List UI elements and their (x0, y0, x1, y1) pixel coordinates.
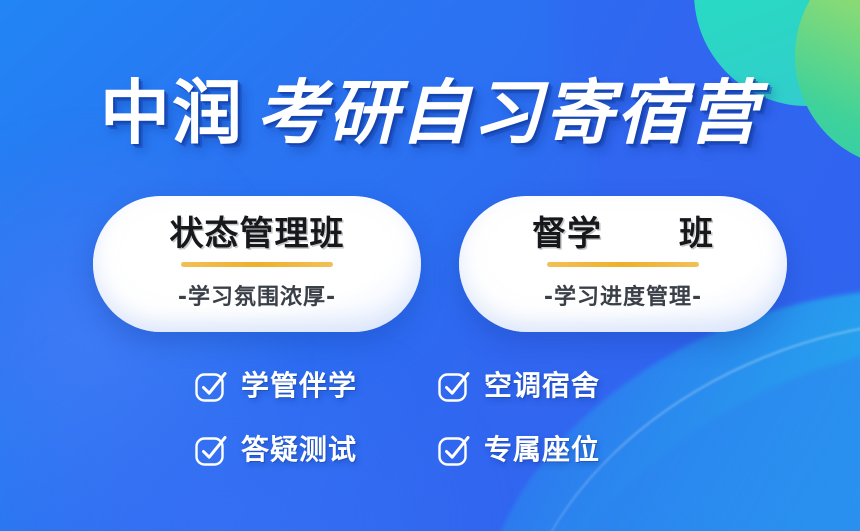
check-square-icon (193, 368, 229, 404)
feature-label: 学管伴学 (241, 372, 357, 400)
card-subtitle: -学习氛围浓厚- (178, 279, 336, 311)
feature-label: 答疑测试 (241, 436, 357, 464)
feature-item-qa-test: 答疑测试 (193, 432, 436, 468)
card-subtitle: -学习进度管理- (544, 279, 702, 311)
card-underline (181, 262, 333, 267)
poster-title: 中润考研自习寄宿营 (0, 78, 860, 148)
title-brand: 中润 (100, 72, 244, 154)
card-heading: 督学 班 (532, 217, 714, 251)
title-main: 考研自习寄宿营 (256, 72, 760, 154)
feature-list: 学管伴学 空调宿舍 答疑测试 专属座位 (193, 368, 623, 468)
feature-item-ac-dorm: 空调宿舍 (436, 368, 626, 404)
program-cards: 状态管理班 -学习氛围浓厚- 督学 班 -学习进度管理- (93, 196, 787, 332)
feature-label: 空调宿舍 (484, 372, 600, 400)
feature-item-dedicated-seat: 专属座位 (436, 432, 626, 468)
check-square-icon (436, 432, 472, 468)
check-square-icon (436, 368, 472, 404)
card-heading: 状态管理班 (170, 217, 345, 251)
feature-item-tutor-companion: 学管伴学 (193, 368, 436, 404)
check-square-icon (193, 432, 229, 468)
program-card-state-management[interactable]: 状态管理班 -学习氛围浓厚- (93, 196, 421, 332)
program-card-supervised-study[interactable]: 督学 班 -学习进度管理- (459, 196, 787, 332)
promo-poster: 中润考研自习寄宿营 状态管理班 -学习氛围浓厚- 督学 班 -学习进度管理- 学… (0, 0, 860, 531)
card-underline (547, 262, 699, 267)
feature-label: 专属座位 (484, 436, 600, 464)
